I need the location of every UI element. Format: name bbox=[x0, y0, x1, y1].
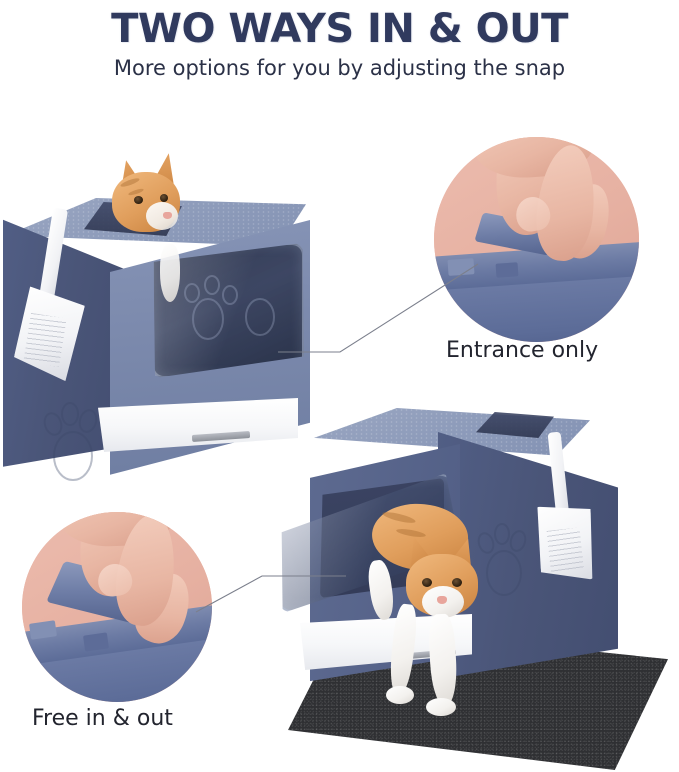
cat-eye-right bbox=[452, 578, 462, 587]
cat-paw bbox=[160, 244, 180, 302]
paw-print-emboss bbox=[476, 516, 532, 600]
connector-free-in-and-out bbox=[196, 568, 346, 622]
cat-eye-right bbox=[160, 194, 168, 202]
paw-print-emboss-interior bbox=[172, 267, 282, 357]
page-subtitle: More options for you by adjusting the sn… bbox=[0, 56, 679, 80]
page-title: TWO WAYS IN & OUT bbox=[0, 6, 679, 52]
header: TWO WAYS IN & OUT More options for you b… bbox=[0, 0, 679, 100]
cat-paw-front bbox=[386, 686, 414, 704]
connector-entrance-only bbox=[278, 252, 488, 362]
litter-scoop-blade bbox=[534, 501, 598, 584]
cat-nose bbox=[163, 212, 172, 219]
scoop-slot-texture bbox=[547, 528, 584, 573]
snap-notch-right bbox=[496, 262, 519, 278]
cat-muzzle bbox=[146, 202, 178, 230]
cat-paw-hind bbox=[426, 698, 456, 716]
callout-inset-free-in-and-out bbox=[22, 512, 212, 702]
infographic-page: TWO WAYS IN & OUT More options for you b… bbox=[0, 0, 679, 772]
callout-label-free-in-and-out: Free in & out bbox=[32, 706, 173, 731]
product-litter-box-closed bbox=[0, 150, 320, 470]
cat-eye-left bbox=[134, 196, 143, 204]
cat-nose bbox=[437, 596, 447, 604]
scoop-slot-texture bbox=[23, 313, 66, 366]
cat-eye-left bbox=[422, 578, 432, 587]
paw-print-emboss bbox=[42, 394, 104, 486]
snap-notch-right bbox=[83, 632, 109, 651]
